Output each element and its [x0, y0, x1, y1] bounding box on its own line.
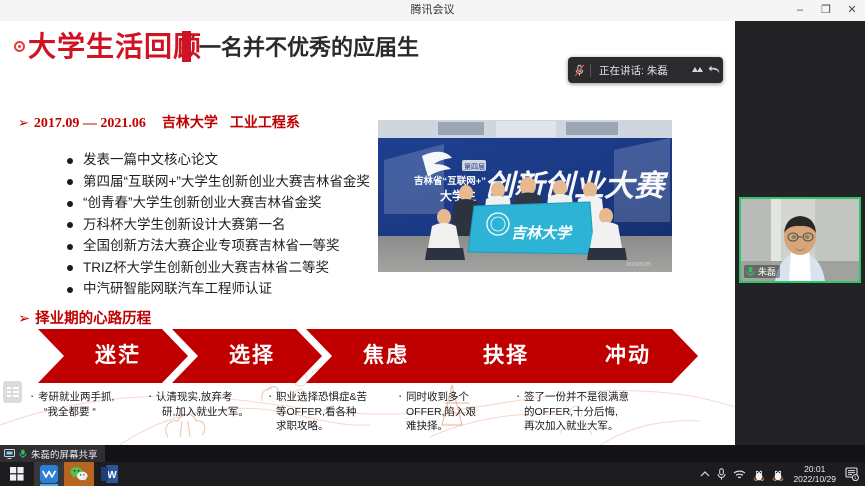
windows-start-icon[interactable] — [0, 462, 34, 486]
list-item: 第四届“互联网+”大学生创新创业大赛吉林省金奖 — [66, 171, 416, 193]
screen-share-icon — [4, 449, 15, 459]
show-hidden-icons-chevron[interactable] — [700, 470, 710, 478]
chevron-label: 迷茫 — [38, 329, 188, 383]
svg-text:第四届: 第四届 — [464, 162, 485, 171]
desc-line: OFFER,陷入艰 — [398, 405, 508, 420]
desc-line: 考研就业两手抓, — [30, 390, 150, 405]
slide-menu-icon[interactable] — [3, 381, 22, 403]
list-item: 发表一篇中文核心论文 — [66, 149, 416, 171]
group-photo-illustration: 吉林省“互联网+” 大学生 第四届 创新创业大赛 — [378, 120, 672, 272]
windows-taskbar: W — [0, 462, 865, 486]
system-tray: 20:01 2022/10/29 1 — [700, 462, 865, 486]
video-tile-active-speaker[interactable]: 朱磊 — [739, 197, 861, 283]
minimize-button[interactable]: – — [787, 0, 813, 21]
list-item: TRIZ杯大学生创新创业大赛吉林省二等奖 — [66, 257, 416, 279]
tencent-meeting-window: 腾讯会议 – ❐ ✕ — [0, 0, 865, 486]
desc-line: 难抉择。 — [398, 419, 508, 434]
svg-text:吉林大学: 吉林大学 — [511, 224, 573, 242]
maximize-button[interactable]: ❐ — [813, 0, 839, 21]
chevron-label: 选择 — [172, 329, 322, 383]
chevron-step-3: 焦虑 — [306, 329, 456, 383]
list-item: 万科杯大学生创新设计大赛第一名 — [66, 214, 416, 236]
arrow-icon: ➢ — [18, 311, 30, 327]
list-item: 中汽研智能网联汽车工程师认证 — [66, 278, 416, 300]
desc-line: “我全都要 “ — [30, 405, 150, 420]
wechat-icon — [70, 466, 88, 482]
back-arrow-icon[interactable] — [706, 65, 723, 75]
notification-icon[interactable]: 1 — [845, 467, 859, 481]
screen-share-status-bar: 朱磊的屏幕共享 — [0, 445, 865, 462]
desc-line: 再次加入就业大军。 — [516, 419, 661, 434]
section-heading-career: ➢择业期的心路历程 — [18, 307, 151, 328]
chevron-desc-4: 同时收到多个 OFFER,陷入艰 难抉择。 — [398, 390, 508, 434]
clock-time: 20:01 — [804, 464, 825, 474]
desc-line: 等OFFER,看各种 — [268, 405, 394, 420]
desc-line: 研,加入就业大军。 — [148, 405, 270, 420]
meeting-body: 大学生活回顾 一名并不优秀的应届生 ➢2017.09 — 2021.06吉林大学… — [0, 21, 865, 445]
chevron-label: 焦虑 — [306, 329, 456, 383]
chevron-desc-3: 职业选择恐惧症&苦 等OFFER,看各种 求职攻略。 — [268, 390, 394, 434]
achievement-list: 发表一篇中文核心论文 第四届“互联网+”大学生创新创业大赛吉林省金奖 “创青春”… — [26, 149, 416, 300]
svg-text:吉林省“互联网+”: 吉林省“互联网+” — [414, 175, 486, 187]
mic-on-icon — [19, 449, 27, 459]
process-chevrons: 迷茫 选择 焦虑 抉择 冲动 — [38, 329, 698, 383]
taskbar-clock[interactable]: 20:01 2022/10/29 — [793, 464, 836, 484]
svg-text:W: W — [107, 470, 117, 481]
chevron-step-2: 选择 — [172, 329, 322, 383]
title-bar: 腾讯会议 – ❐ ✕ — [0, 0, 865, 22]
chevron-step-1: 迷茫 — [38, 329, 188, 383]
desc-line: 同时收到多个 — [398, 390, 508, 405]
wifi-icon[interactable] — [733, 469, 746, 480]
desc-line: 职业选择恐惧症&苦 — [268, 390, 394, 405]
participant-name-tag: 朱磊 — [744, 265, 780, 278]
qq-penguin-icon[interactable] — [753, 468, 765, 481]
window-title: 腾讯会议 — [0, 0, 865, 21]
participant-rail: 朱磊 — [735, 21, 865, 445]
tencent-meeting-icon — [40, 465, 58, 483]
share-status-chip[interactable]: 朱磊的屏幕共享 — [0, 445, 105, 462]
taskbar-app-wechat[interactable] — [64, 462, 94, 486]
svg-text:2019/05/25: 2019/05/25 — [626, 262, 651, 268]
desc-line: 求职攻略。 — [268, 419, 394, 434]
page-subtitle: 一名并不优秀的应届生 — [199, 34, 419, 62]
desc-line: 的OFFER,十分后悔, — [516, 405, 661, 420]
share-status-label: 朱磊的屏幕共享 — [31, 447, 98, 461]
education-dates: 2017.09 — 2021.06 — [34, 116, 146, 131]
list-item: “创青春”大学生创新创业大赛吉林省金奖 — [66, 192, 416, 214]
education-line: ➢2017.09 — 2021.06吉林大学工业工程系 — [18, 112, 300, 132]
close-button[interactable]: ✕ — [839, 0, 865, 21]
list-item: 全国创新方法大赛企业专项赛吉林省一等奖 — [66, 235, 416, 257]
shared-slide: 大学生活回顾 一名并不优秀的应届生 ➢2017.09 — 2021.06吉林大学… — [0, 21, 735, 445]
collapse-icon[interactable] — [689, 65, 706, 75]
taskbar-app-word[interactable]: W — [94, 462, 124, 486]
desc-line: 签了一份并不是很满意 — [516, 390, 661, 405]
group-photo: 吉林省“互联网+” 大学生 第四届 创新创业大赛 — [378, 120, 672, 272]
qq-penguin-icon[interactable] — [772, 468, 784, 481]
speaking-indicator-bar[interactable]: 正在讲话: 朱磊 — [568, 57, 723, 83]
mic-on-icon — [746, 266, 755, 277]
svg-text:创新创业大赛: 创新创业大赛 — [484, 169, 669, 203]
word-icon: W — [101, 465, 118, 483]
section-heading-text: 择业期的心路历程 — [35, 311, 151, 327]
page-title: 大学生活回顾 — [28, 30, 202, 64]
chevron-desc-1: 考研就业两手抓, “我全都要 “ — [30, 390, 150, 419]
microphone-icon[interactable] — [717, 468, 726, 481]
clock-date: 2022/10/29 — [793, 474, 836, 484]
education-department: 工业工程系 — [230, 114, 300, 130]
desc-line: 认清现实,放弃考 — [148, 390, 270, 405]
title-divider — [182, 31, 191, 62]
mic-muted-icon[interactable] — [568, 64, 590, 77]
chevron-desc-5: 签了一份并不是很满意 的OFFER,十分后悔, 再次加入就业大军。 — [516, 390, 661, 434]
taskbar-app-tencent-meeting[interactable] — [34, 462, 64, 486]
participant-name: 朱磊 — [758, 265, 776, 278]
speaking-label: 正在讲话: 朱磊 — [591, 63, 689, 78]
education-university: 吉林大学 — [162, 114, 218, 130]
bullet-ring-icon — [14, 41, 25, 52]
arrow-icon: ➢ — [18, 115, 29, 130]
chevron-desc-2: 认清现实,放弃考 研,加入就业大军。 — [148, 390, 270, 419]
